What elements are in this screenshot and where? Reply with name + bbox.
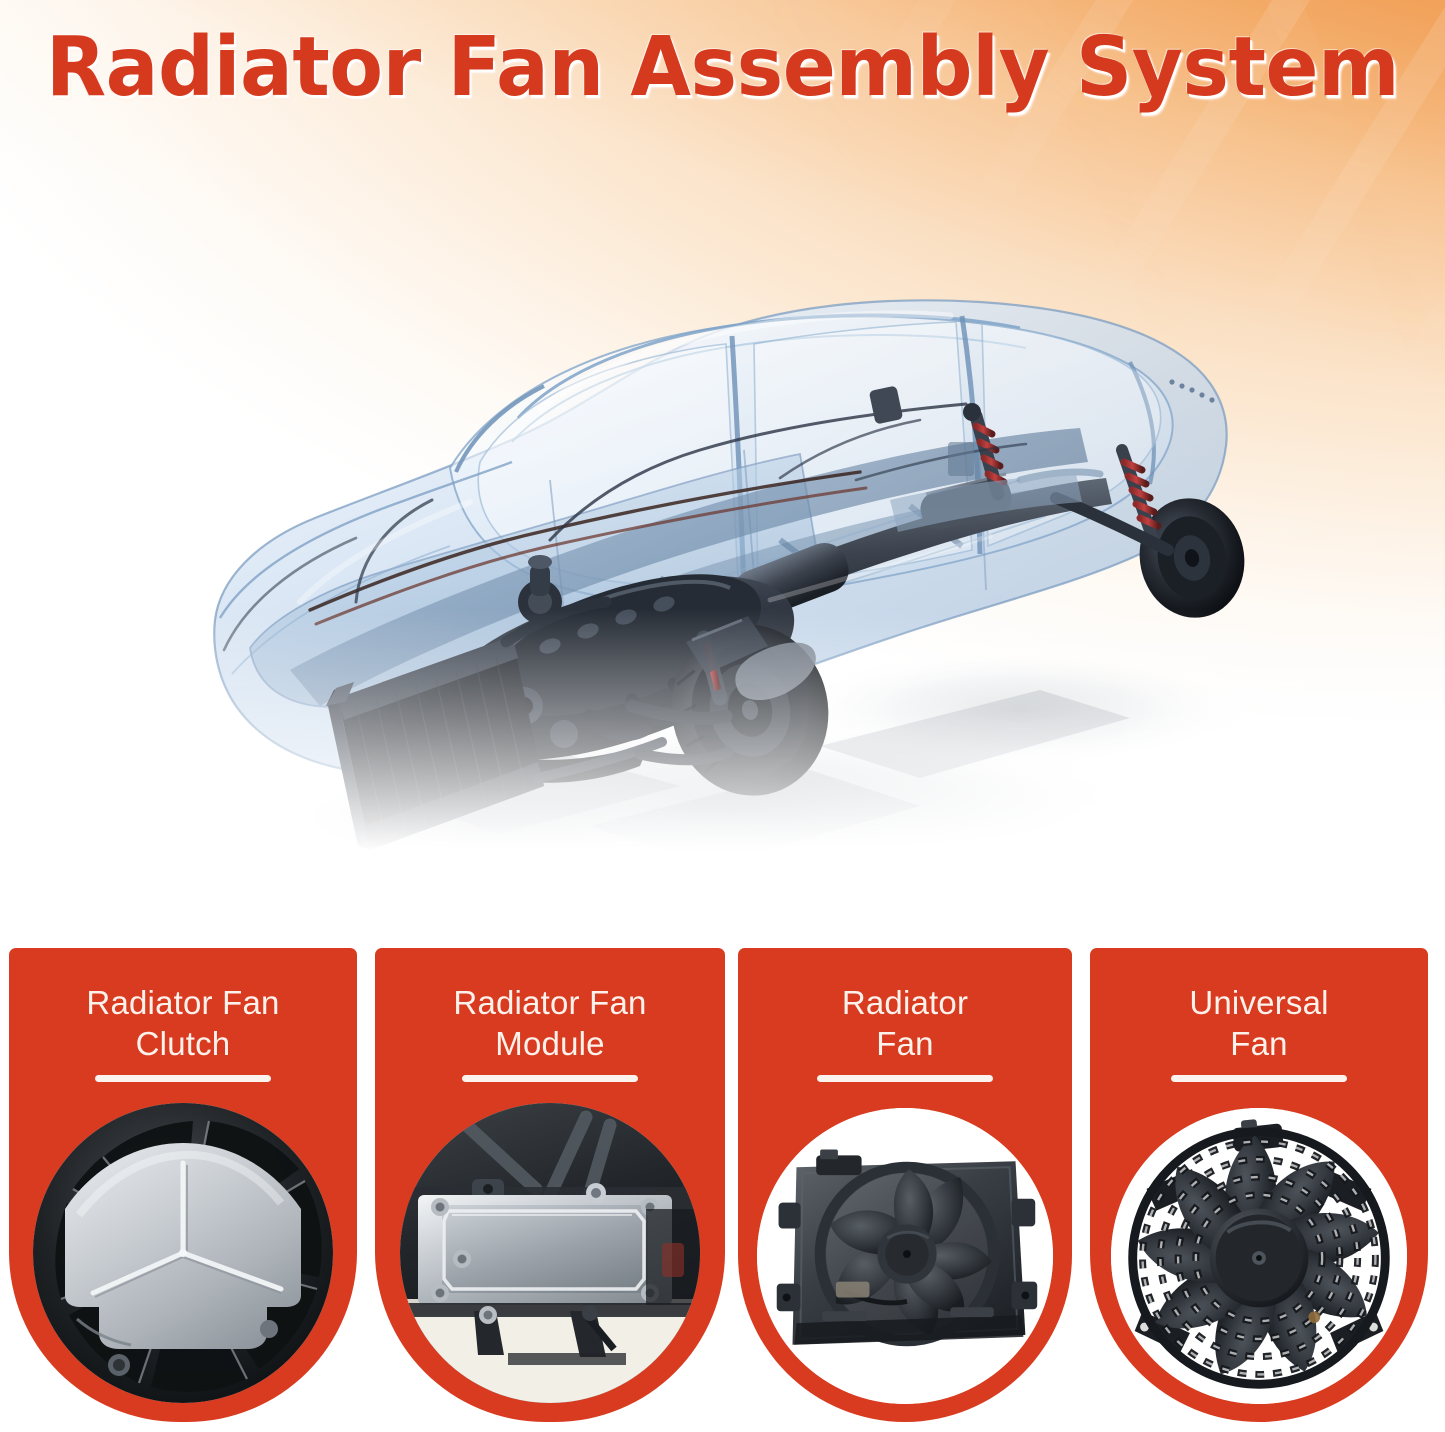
card-divider — [1171, 1075, 1347, 1082]
card-radiator-fan[interactable]: Radiator Fan — [738, 948, 1072, 1422]
card-radiator-fan-module[interactable]: Radiator Fan Module — [375, 948, 725, 1422]
page-title: Radiator Fan Assembly System — [33, 22, 1413, 114]
car-xray-illustration — [120, 150, 1300, 910]
card-title: Radiator Fan Clutch — [9, 982, 357, 1064]
card-radiator-fan-clutch[interactable]: Radiator Fan Clutch — [9, 948, 357, 1422]
card-title: Universal Fan — [1090, 982, 1428, 1064]
product-infographic-page: Radiator Fan Assembly System Radiator Fa… — [0, 0, 1445, 1432]
card-title: Radiator Fan Module — [375, 982, 725, 1064]
hero-banner: Radiator Fan Assembly System — [0, 0, 1445, 948]
radiator-fan-photo — [757, 1108, 1053, 1404]
card-divider — [817, 1075, 993, 1082]
fan-module-photo — [400, 1103, 700, 1403]
card-divider — [462, 1075, 638, 1082]
card-universal-fan[interactable]: Universal Fan — [1090, 948, 1428, 1422]
fan-clutch-photo — [33, 1103, 333, 1403]
card-title: Radiator Fan — [738, 982, 1072, 1064]
product-category-cards: Radiator Fan Clutch — [0, 948, 1445, 1432]
universal-fan-photo — [1111, 1108, 1407, 1404]
card-divider — [95, 1075, 271, 1082]
